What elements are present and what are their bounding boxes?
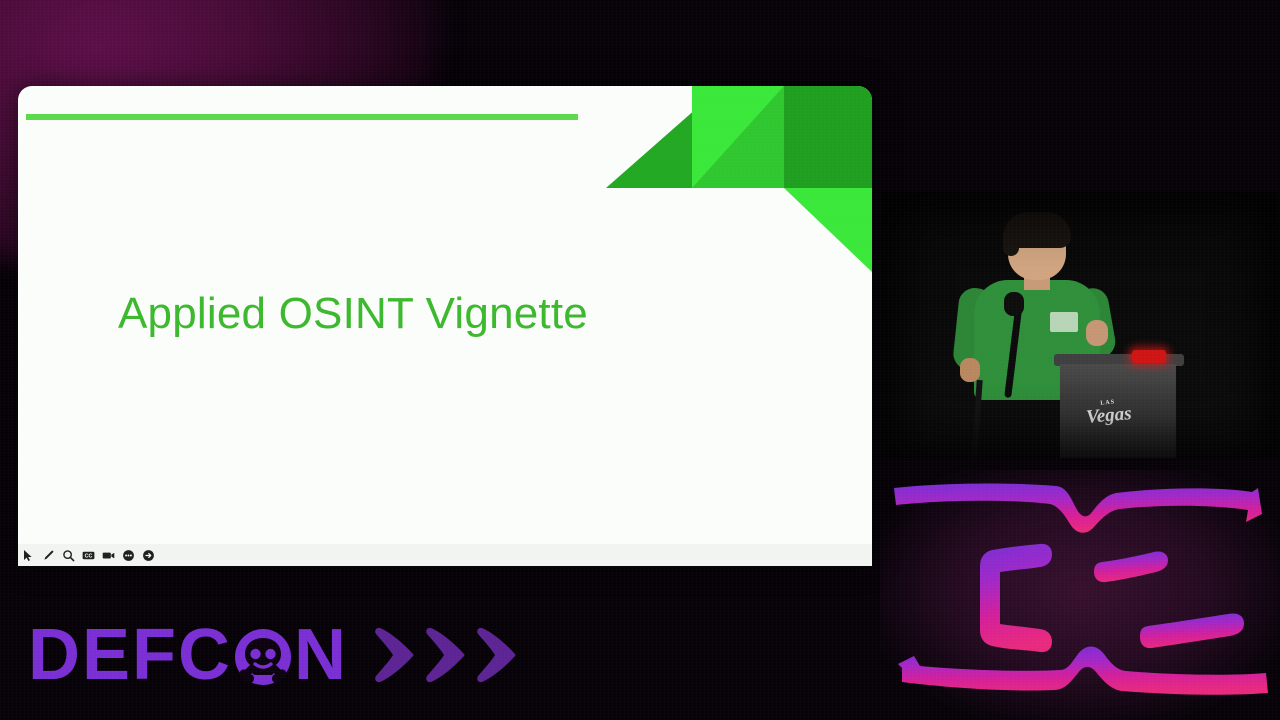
more-options-icon[interactable] xyxy=(122,549,135,562)
chevron-icon-2 xyxy=(425,624,471,686)
shirt-logo xyxy=(1050,312,1078,332)
presentation-slide[interactable]: Applied OSINT Vignette xyxy=(18,86,872,566)
defcon-chevrons xyxy=(374,624,522,686)
slide-title: Applied OSINT Vignette xyxy=(118,289,588,339)
defcon-logo: DEF C xyxy=(28,614,522,696)
chevron-icon-3 xyxy=(476,624,522,686)
pointer-icon[interactable] xyxy=(22,549,35,562)
defcon-wordmark: DEF C xyxy=(28,619,348,691)
screen-root: Applied OSINT Vignette xyxy=(0,0,1280,720)
speaker-hair-side xyxy=(1003,226,1019,256)
svg-text:CC: CC xyxy=(85,553,93,559)
speaker-left-hand xyxy=(960,358,980,382)
speaker-right-hand xyxy=(1086,320,1108,346)
defcon-text-n: N xyxy=(294,619,348,691)
player-toolbar[interactable]: CC xyxy=(18,544,872,566)
slide-decoration-block-dark xyxy=(784,86,872,188)
defcon-text-def: DEF xyxy=(28,619,178,691)
forward-arrow-icon[interactable] xyxy=(142,549,155,562)
podium-wordmark-main: Vegas xyxy=(1085,403,1132,428)
slide-decoration-wedge-bright xyxy=(784,188,872,272)
dc-stylized-graphic xyxy=(880,474,1280,720)
closed-captions-icon[interactable]: CC xyxy=(82,549,95,562)
speaker-camera-feed[interactable]: LAS Vegas xyxy=(882,192,1278,458)
skull-and-crossbones-icon xyxy=(234,626,292,684)
microphone-head xyxy=(1004,292,1024,316)
podium-wordmark: LAS Vegas xyxy=(1071,397,1148,437)
podium-indicator-light xyxy=(1132,350,1166,363)
video-scene: LAS Vegas xyxy=(882,192,1278,458)
defcon-text-c: C xyxy=(178,619,232,691)
search-icon[interactable] xyxy=(62,549,75,562)
pencil-icon[interactable] xyxy=(42,549,55,562)
slide-accent-rule xyxy=(26,114,578,120)
chevron-icon-1 xyxy=(374,624,420,686)
video-camera-icon[interactable] xyxy=(102,549,115,562)
